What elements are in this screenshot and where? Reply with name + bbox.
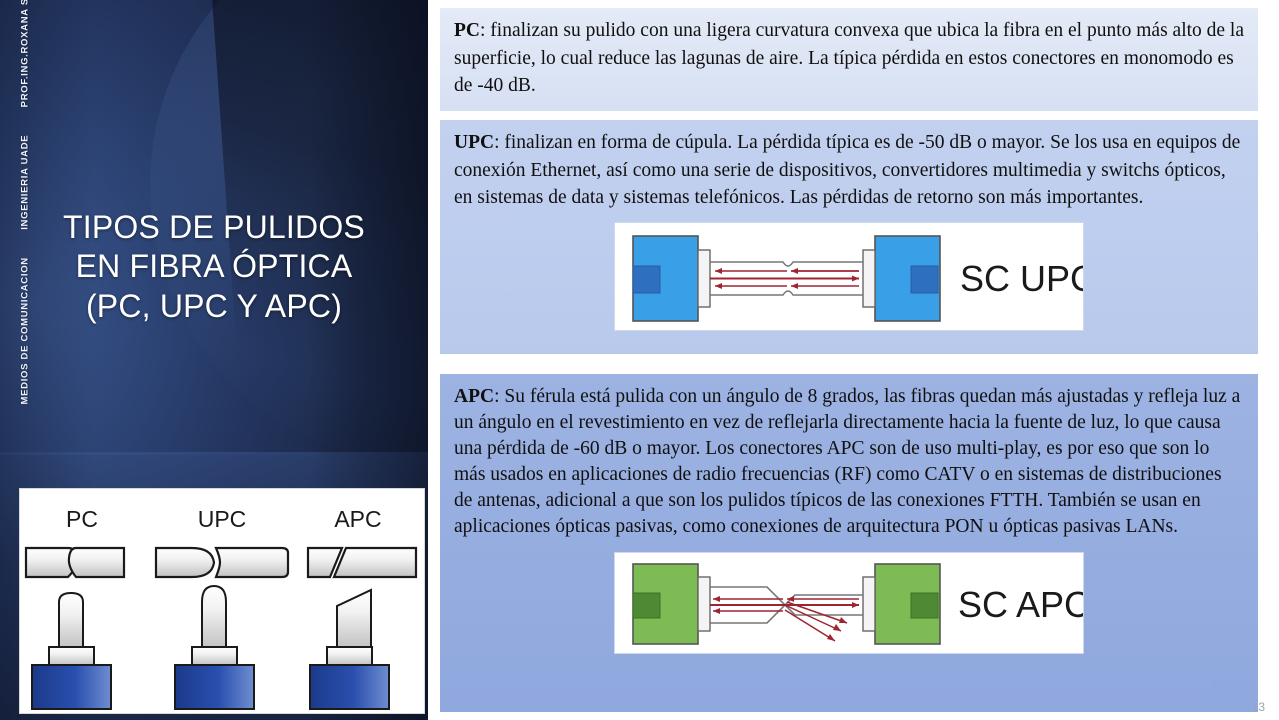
corner-accent-swatch xyxy=(1211,678,1257,704)
body-upc: finalizan en forma de cúpula. La pérdida… xyxy=(454,132,1240,208)
body-pc: finalizan su pulido con una ligera curva… xyxy=(454,20,1244,96)
term-upc: UPC xyxy=(454,132,494,153)
text-block-upc: UPC: finalizan en forma de cúpula. La pé… xyxy=(440,120,1258,354)
slide-canvas: MEDIOS DE COMUNICACION INGENIERIA UADE P… xyxy=(0,0,1279,720)
credit-professor: PROF.ING.ROXANA SALINAS xyxy=(20,0,31,107)
sc-apc-figure: SC APC xyxy=(614,552,1084,654)
sc-apc-svg: SC APC xyxy=(615,553,1083,653)
page-title-line-2: EN FIBRA ÓPTICA xyxy=(18,247,410,286)
polish-types-figure: PC UPC APC xyxy=(19,488,425,714)
sc-upc-figure: SC UPC xyxy=(614,222,1084,331)
body-apc: Su férula está pulida con un ángulo de 8… xyxy=(454,386,1240,537)
sc-upc-label: SC UPC xyxy=(960,258,1083,299)
title-panel: MEDIOS DE COMUNICACION INGENIERIA UADE P… xyxy=(0,0,428,720)
page-title: TIPOS DE PULIDOS EN FIBRA ÓPTICA (PC, UP… xyxy=(18,208,410,326)
text-block-pc: PC: finalizan su pulido con una ligera c… xyxy=(440,8,1258,111)
sep-upc: : xyxy=(494,132,504,153)
sep-apc: : xyxy=(494,386,504,407)
sc-upc-svg: SC UPC xyxy=(615,223,1083,330)
polish-label-pc: PC xyxy=(66,506,98,532)
term-apc: APC xyxy=(454,386,494,407)
polish-types-svg: PC UPC APC xyxy=(20,489,424,713)
text-block-apc: APC: Su férula está pulida con un ángulo… xyxy=(440,374,1258,712)
polish-label-upc: UPC xyxy=(198,506,247,532)
paragraph-pc: PC: finalizan su pulido con una ligera c… xyxy=(454,17,1244,100)
slide-number: 13 xyxy=(1252,700,1265,714)
sep-pc: : xyxy=(480,20,490,41)
term-pc: PC xyxy=(454,20,480,41)
sc-apc-label: SC APC xyxy=(958,584,1083,625)
page-title-line-3: (PC, UPC Y APC) xyxy=(18,287,410,326)
paragraph-apc: APC: Su férula está pulida con un ángulo… xyxy=(454,384,1244,540)
polish-label-apc: APC xyxy=(334,506,381,532)
page-title-line-1: TIPOS DE PULIDOS xyxy=(18,208,410,247)
paragraph-upc: UPC: finalizan en forma de cúpula. La pé… xyxy=(454,129,1244,212)
